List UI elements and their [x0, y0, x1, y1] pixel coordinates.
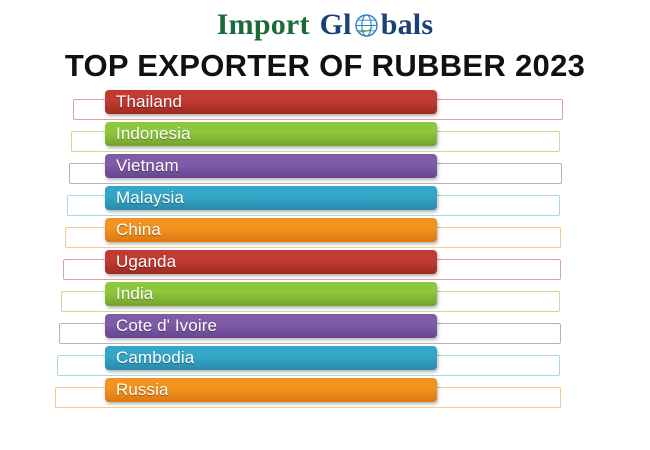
bar-chart: ThailandIndonesiaVietnamMalaysiaChinaUga… — [0, 90, 650, 420]
bar-fill[interactable]: Russia — [105, 378, 437, 402]
bar-row: Uganda — [0, 250, 650, 282]
brand-name-globals-prefix: Gl — [320, 8, 352, 42]
bar-row: Russia — [0, 378, 650, 410]
bar-row: Cote d' Ivoire — [0, 314, 650, 346]
bar-label: Thailand — [105, 92, 182, 112]
bar-fill[interactable]: Indonesia — [105, 122, 437, 146]
brand-name-import: Import — [217, 8, 310, 42]
bar-row: Cambodia — [0, 346, 650, 378]
bar-fill[interactable]: India — [105, 282, 437, 306]
brand-logo: Import Gl bals — [217, 8, 433, 42]
bar-label: Cote d' Ivoire — [105, 316, 217, 336]
bar-label: Cambodia — [105, 348, 194, 368]
bar-fill[interactable]: Cote d' Ivoire — [105, 314, 437, 338]
bar-fill[interactable]: Malaysia — [105, 186, 437, 210]
bar-label: Russia — [105, 380, 169, 400]
brand-name-globals-suffix: bals — [381, 8, 434, 42]
bar-fill[interactable]: Thailand — [105, 90, 437, 114]
globe-icon — [353, 12, 380, 39]
bar-label: China — [105, 220, 161, 240]
bar-label: Uganda — [105, 252, 176, 272]
bar-row: Indonesia — [0, 122, 650, 154]
page-title: TOP EXPORTER OF RUBBER 2023 — [0, 48, 650, 84]
bar-fill[interactable]: Uganda — [105, 250, 437, 274]
bar-label: Indonesia — [105, 124, 191, 144]
bar-fill[interactable]: China — [105, 218, 437, 242]
brand-logo-bar: Import Gl bals — [0, 0, 650, 46]
bar-row: Thailand — [0, 90, 650, 122]
bar-label: India — [105, 284, 153, 304]
bar-row: Vietnam — [0, 154, 650, 186]
bar-label: Vietnam — [105, 156, 179, 176]
bar-row: China — [0, 218, 650, 250]
bar-label: Malaysia — [105, 188, 184, 208]
bar-fill[interactable]: Vietnam — [105, 154, 437, 178]
bar-row: Malaysia — [0, 186, 650, 218]
bar-row: India — [0, 282, 650, 314]
bar-fill[interactable]: Cambodia — [105, 346, 437, 370]
